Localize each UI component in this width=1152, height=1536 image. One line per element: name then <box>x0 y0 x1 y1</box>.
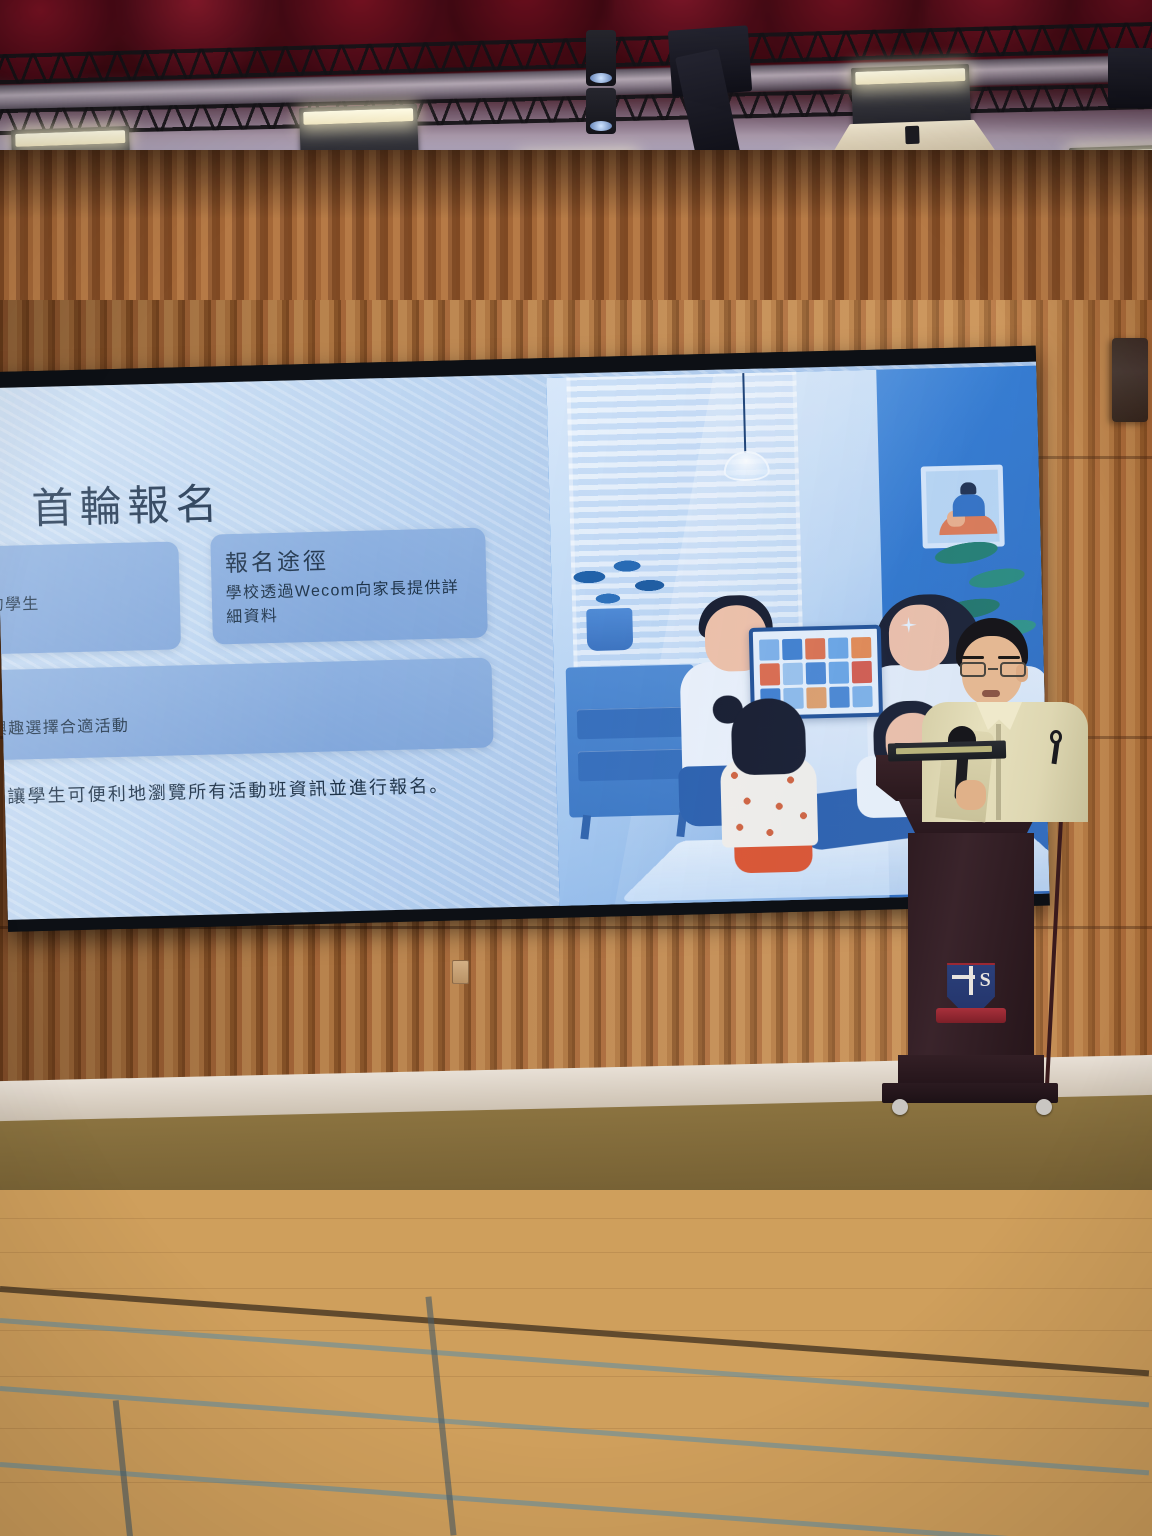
podium-laptop <box>888 740 1006 761</box>
floodlight-icon <box>851 64 971 130</box>
card-heading: 對象 <box>0 552 165 593</box>
court-line <box>0 1386 1149 1475</box>
slide-footer-text: 系統將開放，讓學生可便利地瀏覽所有活動班資訊並進行報名。 <box>0 772 450 812</box>
mourning-ribbon-icon <box>1048 730 1064 764</box>
wall-plate-icon <box>452 960 469 984</box>
slide-card-suggestion: 建議 協助孩子根據興趣選擇合適活動 <box>0 658 494 764</box>
side-cabinet-icon <box>566 664 698 817</box>
presenter-hand <box>956 780 986 810</box>
glasses-icon <box>960 662 1026 677</box>
podium-cart <box>882 1083 1058 1103</box>
spotlight-icon <box>586 88 616 134</box>
crest-letter: S <box>980 969 991 992</box>
school-crest-icon: S <box>945 963 997 1021</box>
wall-speaker-icon <box>1112 338 1148 422</box>
slide-card-target: 對象 入任何活動班的學生 <box>0 541 181 657</box>
slide-title: 段二：首輪報名 <box>0 470 224 539</box>
ceiling-area <box>0 0 1152 330</box>
presenter-eyebrow <box>962 656 984 659</box>
presenter-mouth <box>982 690 1000 697</box>
gym-floor <box>0 1190 1152 1536</box>
flower-pot-icon <box>586 608 633 651</box>
girl-hair <box>731 698 807 776</box>
court-line-vertical <box>113 1400 134 1536</box>
hall-scene: 段二：首輪報名 對象 入任何活動班的學生 報名途徑 學校透過Wecom向家長提供… <box>0 0 1152 1536</box>
caster-wheel-icon <box>892 1099 908 1115</box>
shirt-placket <box>996 724 1001 820</box>
spotlight-icon <box>586 30 616 86</box>
power-cable <box>1044 807 1063 1097</box>
card-heading: 報名途徑 <box>224 538 472 578</box>
podium-body: S <box>908 833 1034 1069</box>
court-line-vertical <box>425 1296 456 1535</box>
fixture-box-icon <box>1108 48 1152 108</box>
card-body: 入任何活動班的學生 <box>0 590 166 621</box>
caster-wheel-icon <box>1036 1099 1052 1115</box>
court-line <box>0 1462 1149 1536</box>
presenter <box>930 618 1080 818</box>
presenter-eyebrow <box>998 656 1020 659</box>
card-body: 學校透過Wecom向家長提供詳細資料 <box>225 576 473 630</box>
slide-card-registration-channel: 報名途徑 學校透過Wecom向家長提供詳細資料 <box>210 528 488 645</box>
